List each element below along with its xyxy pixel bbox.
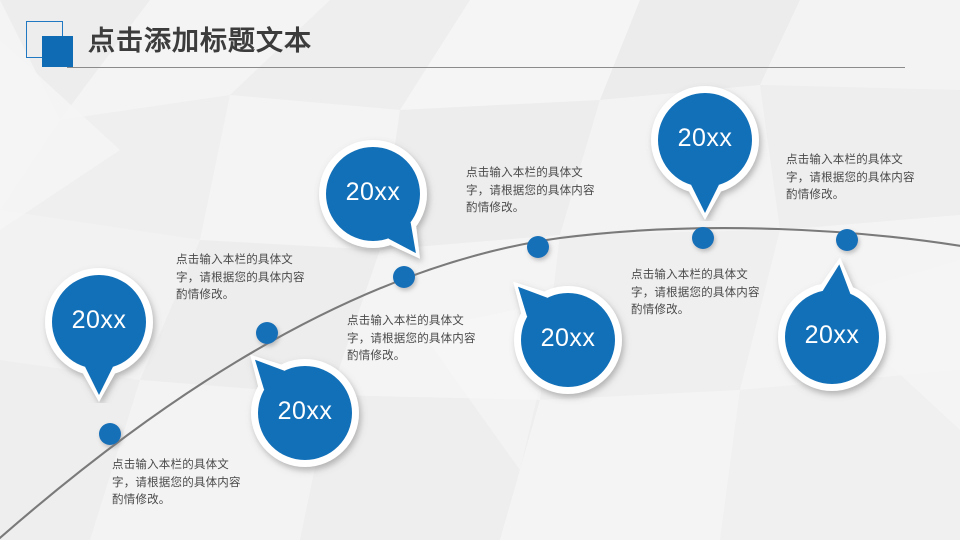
- timeline-dot-4[interactable]: [527, 236, 549, 258]
- page-title: 点击添加标题文本: [88, 22, 312, 60]
- balloon-shape-4: [487, 259, 649, 421]
- balloon-shape-6: [751, 256, 913, 418]
- timeline-dot-1[interactable]: [99, 423, 121, 445]
- milestone-balloon-1[interactable]: 20xx: [18, 241, 180, 403]
- logo-filled-square-icon: [42, 36, 73, 67]
- milestone-note-5[interactable]: 点击输入本栏的具体文字，请根据您的具体内容酌情修改。: [466, 165, 602, 218]
- milestone-note-1[interactable]: 点击输入本栏的具体文字，请根据您的具体内容酌情修改。: [112, 457, 248, 510]
- balloon-shape-5: [624, 59, 786, 221]
- milestone-balloon-4[interactable]: 20xx: [487, 259, 649, 421]
- milestone-note-3[interactable]: 点击输入本栏的具体文字，请根据您的具体内容酌情修改。: [347, 313, 483, 366]
- milestone-note-6[interactable]: 点击输入本栏的具体文字，请根据您的具体内容酌情修改。: [786, 152, 922, 205]
- balloon-shape-3: [292, 113, 454, 275]
- milestone-note-2[interactable]: 点击输入本栏的具体文字，请根据您的具体内容酌情修改。: [176, 252, 312, 305]
- milestone-note-4[interactable]: 点击输入本栏的具体文字，请根据您的具体内容酌情修改。: [631, 267, 767, 320]
- milestone-balloon-6[interactable]: 20xx: [751, 256, 913, 418]
- slide-canvas: 点击添加标题文本 20xx20xx20xx20xx20xx20xx 点击输入本栏…: [0, 0, 960, 540]
- timeline-dot-5[interactable]: [692, 227, 714, 249]
- milestone-balloon-3[interactable]: 20xx: [292, 113, 454, 275]
- slide-header: 点击添加标题文本: [0, 0, 960, 82]
- milestone-balloon-5[interactable]: 20xx: [624, 59, 786, 221]
- title-underline-divider: [67, 67, 905, 68]
- balloon-shape-1: [18, 241, 180, 403]
- timeline-dot-6[interactable]: [836, 229, 858, 251]
